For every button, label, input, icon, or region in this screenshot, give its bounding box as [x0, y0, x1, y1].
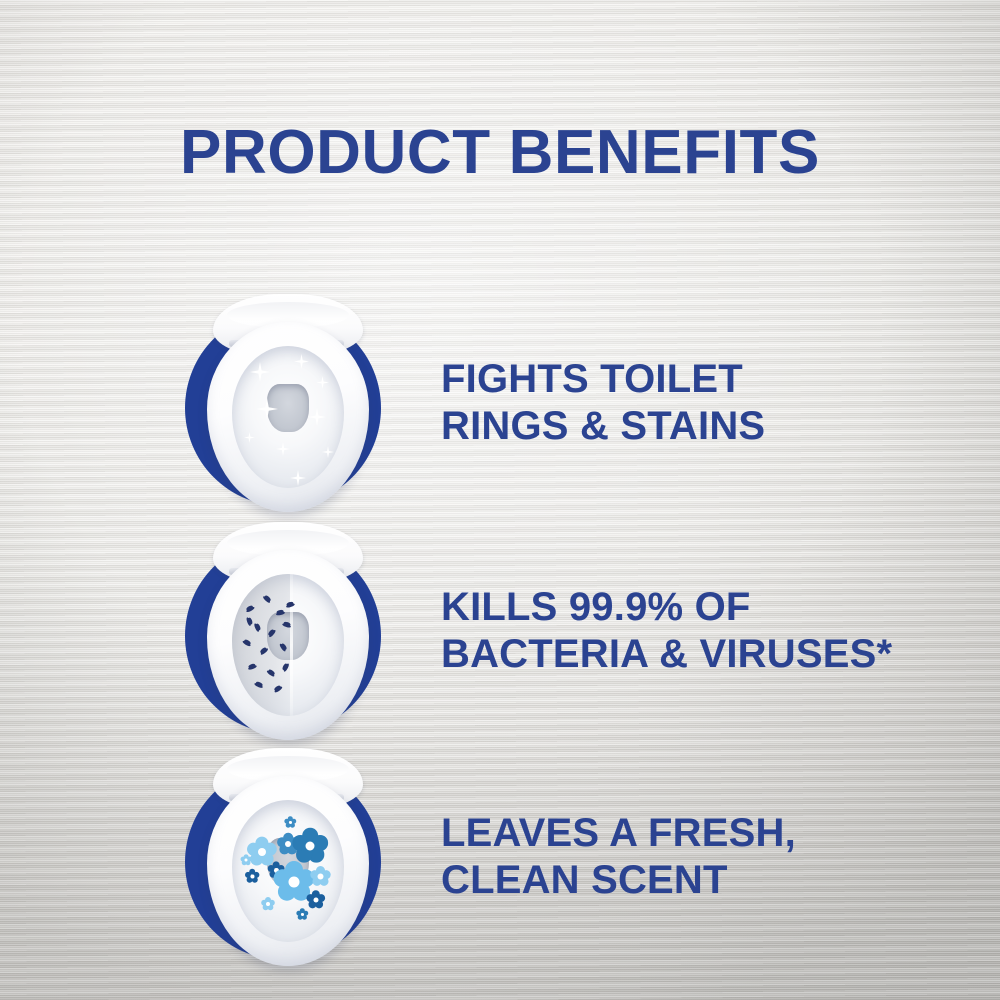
toilet-drain: [267, 612, 309, 660]
page-title: PRODUCT BENEFITS: [0, 122, 1000, 184]
flower-icon: [279, 867, 309, 897]
toilet-bowl-germs-split-icon: [173, 516, 403, 746]
flower-icon: [309, 893, 323, 907]
flower-icon: [313, 869, 328, 884]
sparkle-icon: [244, 432, 255, 443]
product-benefits-infographic: PRODUCT BENEFITS FIGHTS TOILET RINGS & S…: [0, 0, 1000, 1000]
toilet-illustration: [173, 742, 403, 972]
benefit-row-kills-bacteria-viruses: KILLS 99.9% OF BACTERIA & VIRUSES*: [0, 516, 1000, 746]
flower-icon: [298, 910, 307, 919]
sparkle-icon: [294, 354, 309, 369]
toilet-illustration: [173, 288, 403, 518]
flower-icon: [286, 818, 295, 827]
benefit-row-fights-rings-stains: FIGHTS TOILET RINGS & STAINS: [0, 288, 1000, 518]
sparkle-icon: [308, 408, 326, 426]
benefit-row-fresh-clean-scent: LEAVES A FRESH, CLEAN SCENT: [0, 742, 1000, 972]
sparkle-icon: [250, 362, 270, 382]
benefit-label-fights-rings-stains: FIGHTS TOILET RINGS & STAINS: [441, 356, 765, 450]
flower-icon: [242, 856, 250, 864]
sparkle-icon: [276, 442, 290, 456]
benefit-label-fresh-clean-scent: LEAVES A FRESH, CLEAN SCENT: [441, 810, 796, 904]
toilet-bowl-sparkling-icon: [173, 288, 403, 518]
flower-icon: [247, 871, 258, 882]
toilet-illustration: [173, 516, 403, 746]
clean-dirty-divider: [290, 574, 293, 716]
sparkle-icon: [316, 376, 329, 389]
flower-icon: [263, 899, 273, 909]
sparkle-icon: [290, 470, 306, 486]
flower-icon: [297, 833, 323, 859]
benefit-label-kills-bacteria-viruses: KILLS 99.9% OF BACTERIA & VIRUSES*: [441, 584, 892, 678]
toilet-bowl-flowers-icon: [173, 742, 403, 972]
sparkle-icon: [322, 446, 334, 458]
flower-icon: [251, 841, 273, 863]
